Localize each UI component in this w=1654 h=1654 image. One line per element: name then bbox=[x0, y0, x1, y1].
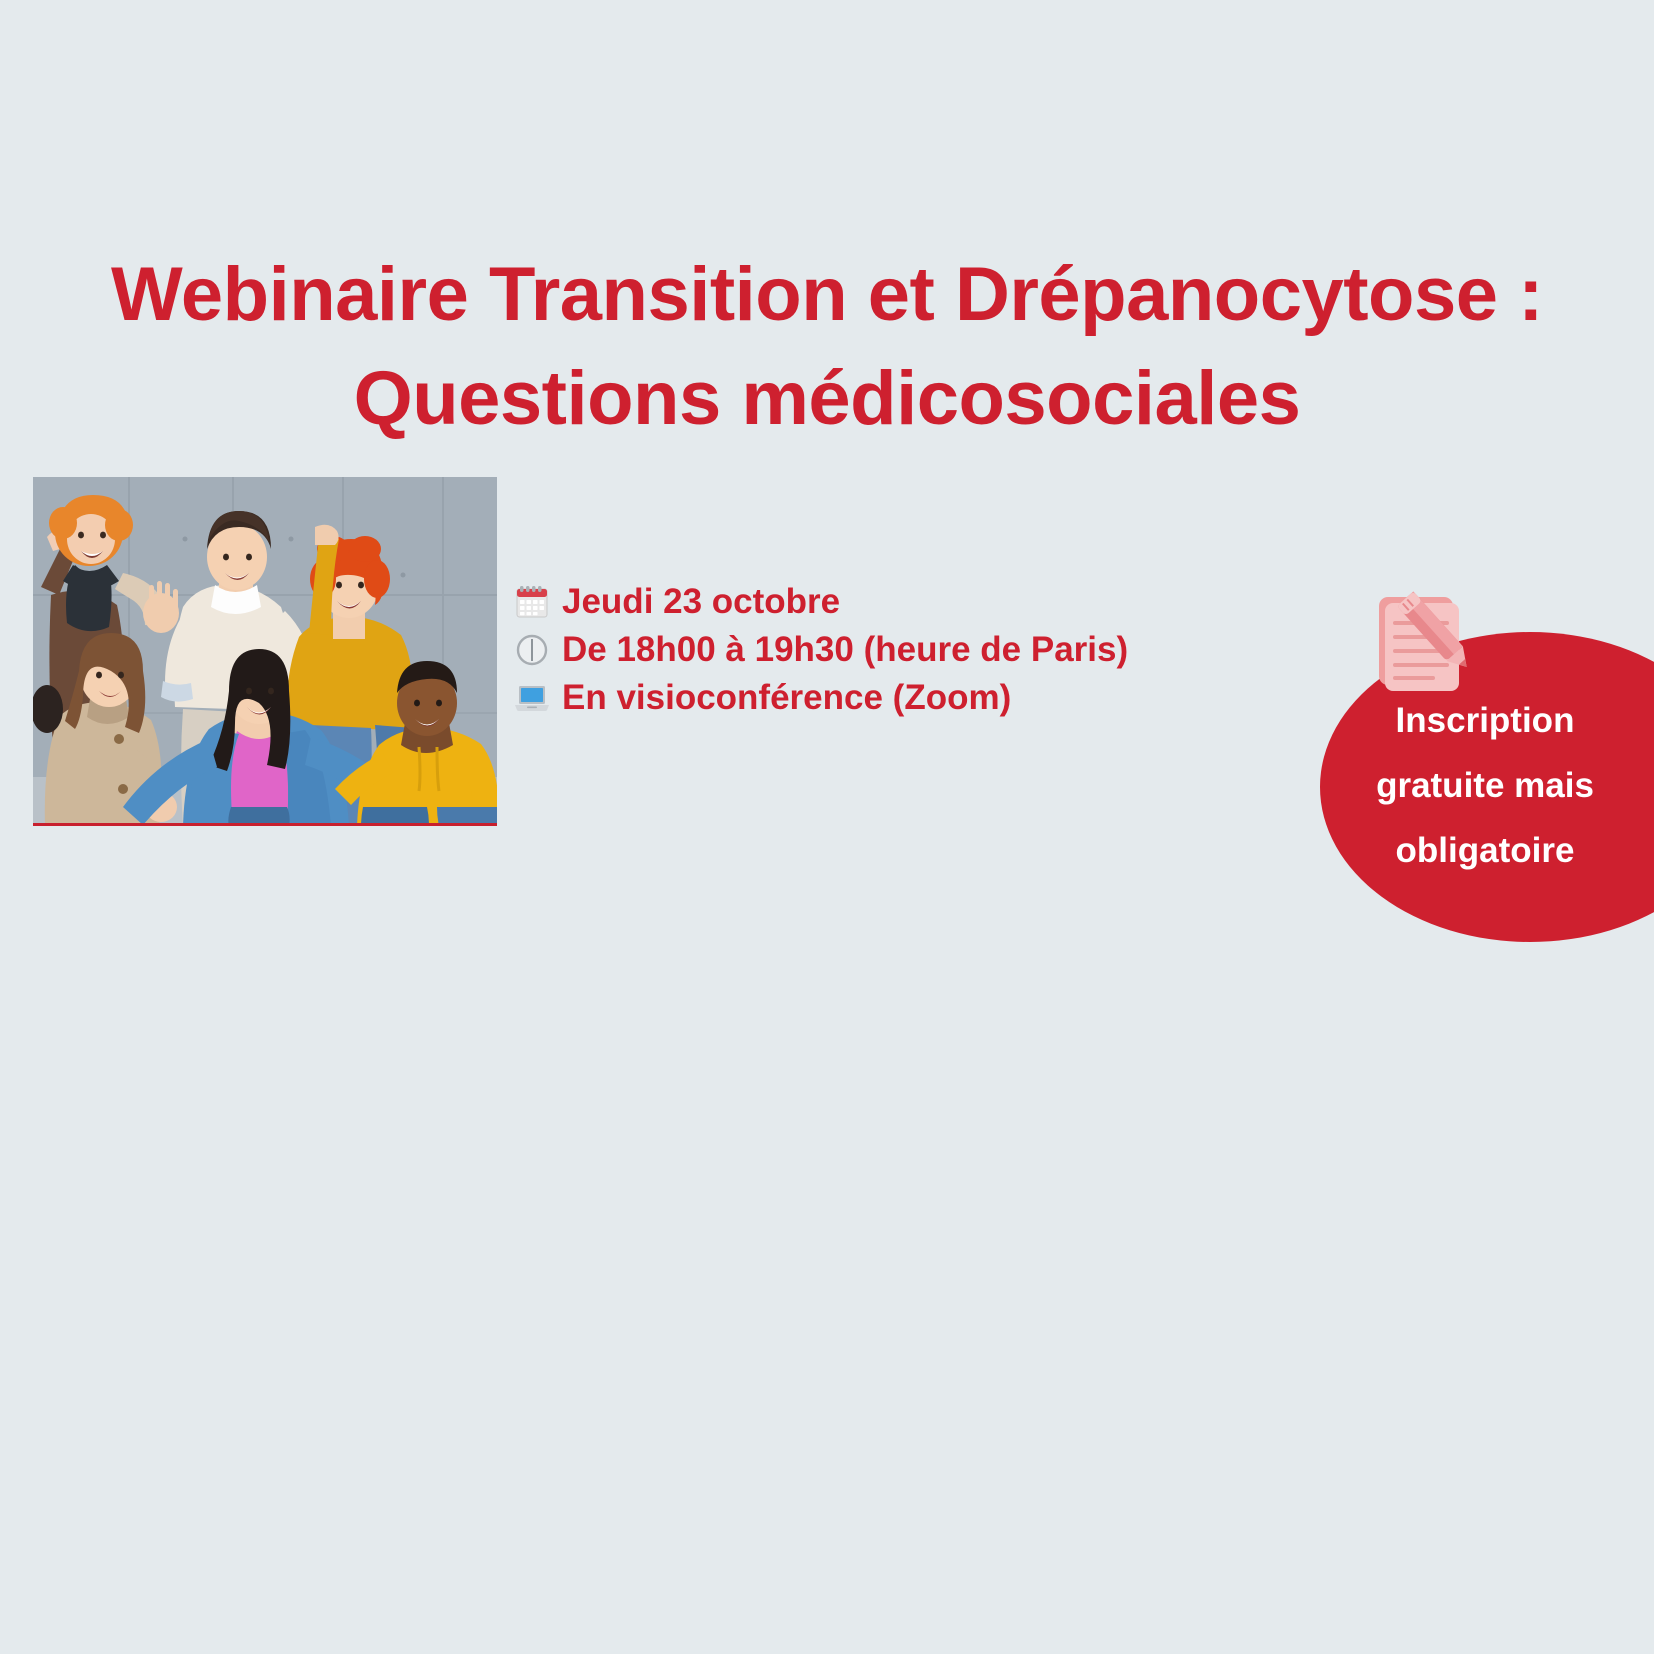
badge-text: Inscription gratuite mais obligatoire bbox=[1320, 688, 1650, 883]
event-details: Jeudi 23 octobre De 18h00 à 19h30 (heure… bbox=[512, 578, 1212, 722]
badge-line-2: gratuite mais bbox=[1320, 753, 1650, 818]
title-line-2: Questions médicosociales bbox=[30, 347, 1624, 451]
detail-text-date: Jeudi 23 octobre bbox=[562, 580, 840, 624]
badge-line-1: Inscription bbox=[1320, 688, 1650, 753]
group-photo bbox=[33, 477, 497, 826]
clock-icon bbox=[512, 630, 552, 670]
webinar-poster: Webinaire Transition et Drépanocytose : … bbox=[0, 0, 1654, 1654]
memo-pencil-icon bbox=[1361, 579, 1485, 703]
detail-row-time: De 18h00 à 19h30 (heure de Paris) bbox=[512, 626, 1212, 674]
detail-row-date: Jeudi 23 octobre bbox=[512, 578, 1212, 626]
calendar-icon bbox=[512, 582, 552, 622]
group-photo-illustration bbox=[33, 477, 497, 826]
title-line-1: Webinaire Transition et Drépanocytose : bbox=[30, 243, 1624, 347]
detail-text-time: De 18h00 à 19h30 (heure de Paris) bbox=[562, 628, 1128, 672]
detail-row-location: En visioconférence (Zoom) bbox=[512, 674, 1212, 722]
badge-line-3: obligatoire bbox=[1320, 818, 1650, 883]
page-title: Webinaire Transition et Drépanocytose : … bbox=[0, 243, 1654, 451]
detail-text-location: En visioconférence (Zoom) bbox=[562, 676, 1011, 720]
laptop-icon bbox=[512, 678, 552, 718]
